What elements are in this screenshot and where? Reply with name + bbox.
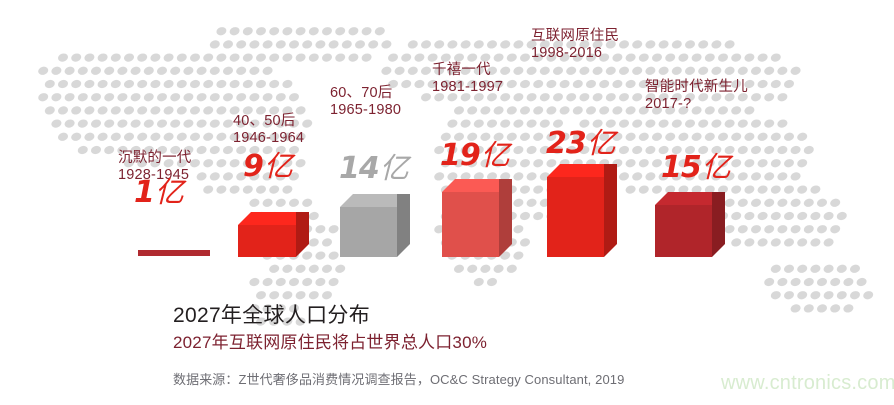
generation-name: 40、50后	[233, 113, 304, 130]
bar-side-face	[499, 179, 512, 257]
value-unit: 亿	[264, 149, 293, 183]
bar-bar-silent	[138, 250, 210, 256]
value-unit: 亿	[702, 150, 731, 184]
generation-label-bar-40s50s: 40、50后1946-1964	[233, 113, 304, 147]
generation-label-bar-millennials: 千禧一代1981-1997	[432, 62, 503, 96]
bar-side-face	[397, 194, 410, 257]
value-unit: 亿	[155, 175, 184, 209]
bar-front-face	[655, 205, 712, 257]
generation-label-bar-60s70s: 60、70后1965-1980	[330, 85, 401, 119]
value-label-bar-40s50s: 9亿	[243, 152, 293, 182]
generation-years: 1965-1980	[330, 102, 401, 119]
value-label-bar-digital-natives: 23亿	[546, 129, 616, 159]
generation-label-bar-ai-newborns: 智能时代新生儿2017-?	[645, 79, 748, 113]
bar-side-face	[604, 164, 617, 257]
value-label-bar-millennials: 19亿	[440, 141, 510, 171]
generation-label-bar-digital-natives: 互联网原住民1998-2016	[531, 28, 619, 62]
generation-name: 智能时代新生儿	[645, 79, 748, 96]
value-number: 15	[661, 150, 701, 185]
bar-bar-40s50s	[238, 212, 309, 257]
bar-bar-digital-natives	[547, 164, 617, 257]
value-label-bar-60s70s: 14亿	[339, 154, 409, 184]
bar-bar-ai-newborns	[655, 192, 725, 257]
value-unit: 亿	[380, 151, 409, 185]
bar-bar-60s70s	[340, 194, 410, 257]
infographic-canvas: 沉默的一代1928-19451亿40、50后1946-19649亿60、70后1…	[0, 0, 894, 405]
generation-name: 互联网原住民	[531, 28, 619, 45]
generation-name: 沉默的一代	[118, 150, 192, 167]
generation-years: 1981-1997	[432, 79, 503, 96]
value-number: 1	[134, 175, 154, 210]
bar-front-face	[238, 225, 296, 257]
value-number: 14	[339, 151, 379, 186]
generation-years: 1998-2016	[531, 45, 619, 62]
value-number: 19	[440, 138, 480, 173]
bar-side-face	[712, 192, 725, 257]
bar-front-face	[340, 207, 397, 257]
caption-block: 2027年全球人口分布 2027年互联网原住民将占世界总人口30%	[173, 303, 487, 354]
value-unit: 亿	[481, 138, 510, 172]
value-label-bar-silent: 1亿	[134, 178, 184, 208]
bar-front-face	[547, 177, 604, 257]
value-number: 9	[243, 149, 263, 184]
bar-bar-millennials	[442, 179, 512, 257]
generation-name: 60、70后	[330, 85, 401, 102]
bar-side-face	[296, 212, 309, 257]
generation-name: 千禧一代	[432, 62, 503, 79]
value-label-bar-ai-newborns: 15亿	[661, 153, 731, 183]
page-title: 2027年全球人口分布	[173, 303, 487, 329]
bar-front-face	[442, 192, 499, 257]
source-note: 数据来源：Z世代奢侈品消费情况调查报告，OC&C Strategy Consul…	[173, 371, 624, 388]
generation-years: 1946-1964	[233, 130, 304, 147]
value-number: 23	[546, 126, 586, 161]
value-unit: 亿	[587, 126, 616, 160]
watermark-cntronics: www.cntronics.com	[721, 372, 894, 394]
caption-subtitle: 2027年互联网原住民将占世界总人口30%	[173, 331, 487, 354]
generation-years: 2017-?	[645, 96, 748, 113]
